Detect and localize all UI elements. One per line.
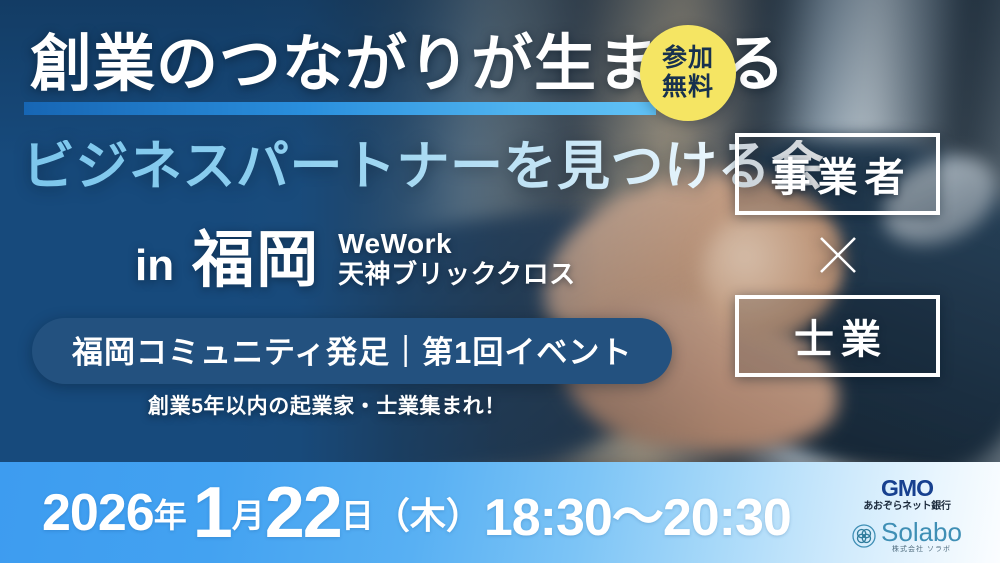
gmo-wordmark: GMO <box>863 477 950 500</box>
sponsor-logo-solabo: Solabo 株式会社 ソラボ <box>852 519 962 553</box>
event-series-label: 福岡コミュニティ発足｜第1回イベント <box>72 335 632 370</box>
audience-subtitle: 創業5年以内の起業家・士業集まれ！ <box>148 390 506 420</box>
schedule-month: 1 <box>193 472 232 554</box>
target-box-licensed-professional: 士業 <box>735 295 940 377</box>
solabo-text-block: Solabo 株式会社 ソラボ <box>881 519 962 553</box>
location-line: in 福岡 WeWork 天神ブリッククロス <box>135 228 576 292</box>
sponsor-logos: GMO あおぞらネット銀行 Solabo <box>832 466 982 563</box>
free-badge-line-2: 無料 <box>662 74 714 102</box>
venue-block: WeWork 天神ブリッククロス <box>338 228 575 292</box>
target-box-business-owner: 事業者 <box>735 133 940 215</box>
venue-name-jp: 天神ブリッククロス <box>338 260 575 290</box>
free-badge-line-1: 参加 <box>662 45 714 73</box>
target-box-licensed-professional-label: 士業 <box>787 307 888 365</box>
schedule-bar: 2026 年 1 月 22 日 （木） 18:30〜20:30 GMO あおぞら… <box>0 462 1000 563</box>
headline-underline <box>24 102 656 115</box>
headline-line-2: ビジネスパートナーを見つける会 <box>22 140 825 193</box>
schedule-time: 18:30〜20:30 <box>484 475 791 550</box>
free-participation-badge: 参加 無料 <box>640 25 736 121</box>
solabo-knot-icon <box>852 524 876 548</box>
gmo-bank-name: あおぞらネット銀行 <box>863 502 950 512</box>
target-audience-boxes: 事業者 士業 <box>735 133 940 377</box>
schedule-day-unit: 日 <box>341 489 374 537</box>
schedule-year: 2026 <box>42 483 154 543</box>
sponsor-logo-gmo: GMO あおぞらネット銀行 <box>863 477 950 512</box>
schedule-month-unit: 月 <box>232 489 265 537</box>
location-city: 福岡 <box>192 230 320 292</box>
schedule-day: 22 <box>265 472 341 554</box>
banner-content: 創業のつながりが生まれる ビジネスパートナーを見つける会 in 福岡 WeWor… <box>0 0 1000 563</box>
event-banner: 創業のつながりが生まれる ビジネスパートナーを見つける会 in 福岡 WeWor… <box>0 0 1000 563</box>
schedule-text: 2026 年 1 月 22 日 （木） 18:30〜20:30 <box>42 462 791 563</box>
venue-name-en: WeWork <box>338 228 575 260</box>
location-prefix: in <box>135 244 174 292</box>
schedule-day-of-week: （木） <box>374 487 482 539</box>
event-series-pill: 福岡コミュニティ発足｜第1回イベント <box>32 318 672 384</box>
target-box-business-owner-label: 事業者 <box>764 145 912 203</box>
schedule-year-unit: 年 <box>154 489 187 537</box>
multiply-icon <box>813 215 863 295</box>
solabo-company-name: 株式会社 ソラボ <box>881 546 962 553</box>
solabo-wordmark: Solabo <box>881 519 962 545</box>
